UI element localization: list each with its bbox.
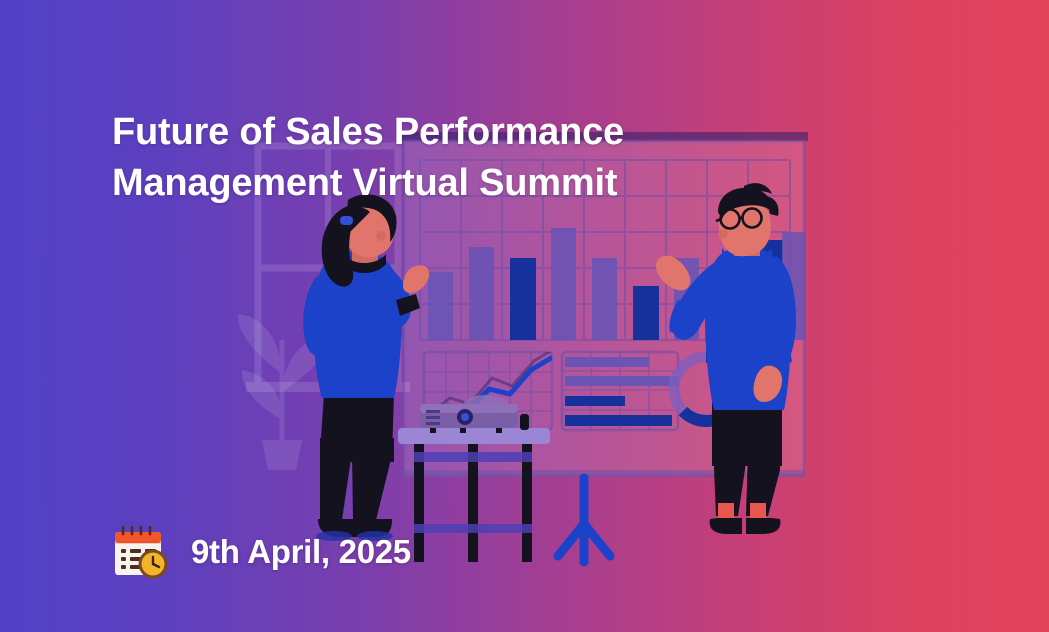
bar-4: [551, 228, 576, 340]
table-row: [565, 415, 672, 426]
bar-6: [633, 286, 659, 340]
table-row: [565, 396, 625, 406]
page-title-line-1: Future of Sales Performance: [112, 107, 772, 158]
event-date: 9th April, 2025: [112, 524, 411, 580]
table-row: [565, 376, 678, 386]
bar-3: [510, 258, 536, 340]
page-title-line-2: Management Virtual Summit: [112, 158, 772, 209]
calendar-clock-icon: [112, 524, 174, 580]
tripod-stand: [558, 478, 610, 562]
page-title: Future of Sales Performance Management V…: [112, 107, 772, 208]
bar-2: [469, 247, 494, 340]
table-row: [565, 357, 649, 367]
bar-1: [428, 272, 453, 340]
projector-table: [398, 428, 550, 562]
bar-5: [592, 258, 617, 340]
event-date-label: 9th April, 2025: [191, 533, 411, 571]
event-banner: Future of Sales Performance Management V…: [0, 0, 1049, 632]
